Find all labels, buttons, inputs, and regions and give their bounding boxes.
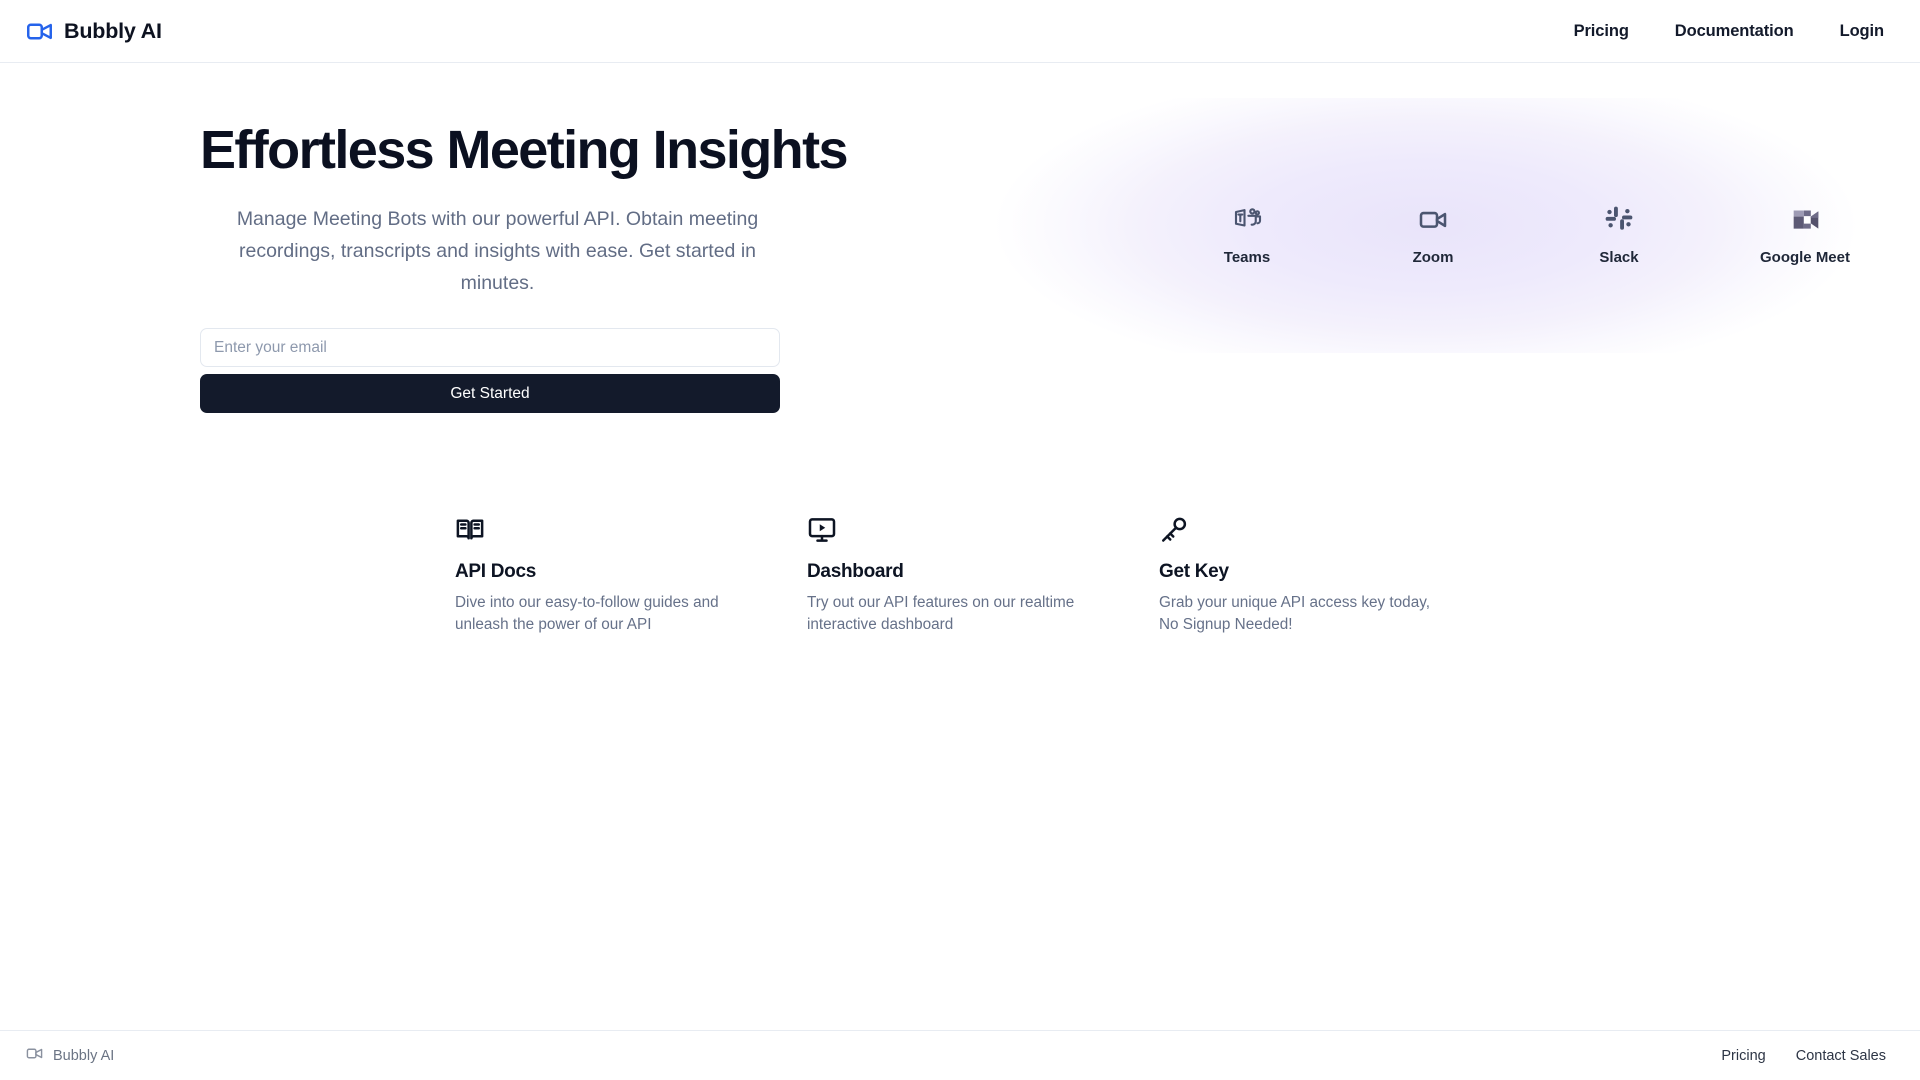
site-footer: Bubbly AI Pricing Contact Sales [0, 1030, 1920, 1080]
open-book-icon [455, 515, 807, 551]
nav-link-documentation[interactable]: Documentation [1675, 22, 1794, 41]
integration-slack[interactable]: Slack [1564, 199, 1674, 266]
footer-link-contact-sales[interactable]: Contact Sales [1796, 1048, 1886, 1064]
integration-zoom[interactable]: Zoom [1378, 199, 1488, 266]
hero-section: Effortless Meeting Insights Manage Meeti… [0, 63, 1920, 503]
page-title: Effortless Meeting Insights [200, 121, 960, 180]
hero-subtitle: Manage Meeting Bots with our powerful AP… [200, 204, 795, 299]
integration-label: Slack [1599, 249, 1638, 266]
email-input[interactable] [200, 328, 780, 367]
feature-description: Grab your unique API access key today, N… [1159, 592, 1444, 635]
google-meet-icon [1788, 199, 1822, 241]
footer-link-pricing[interactable]: Pricing [1721, 1048, 1765, 1064]
signup-form: Get Started [200, 328, 780, 413]
feature-card-dashboard[interactable]: Dashboard Try out our API features on ou… [807, 515, 1159, 635]
integration-label: Google Meet [1760, 249, 1850, 266]
footer-brand[interactable]: Bubbly AI [26, 1045, 114, 1067]
brand-name: Bubbly AI [64, 19, 162, 44]
slack-icon [1604, 199, 1634, 241]
microsoft-teams-icon [1232, 199, 1262, 241]
video-camera-icon [26, 18, 53, 45]
nav-link-pricing[interactable]: Pricing [1574, 22, 1629, 41]
integrations-list: Teams Zoom [956, 98, 1896, 353]
feature-title: Get Key [1159, 561, 1511, 583]
gradient-blob: Teams Zoom [956, 98, 1896, 353]
integration-label: Teams [1224, 249, 1270, 266]
footer-brand-name: Bubbly AI [53, 1048, 114, 1064]
feature-cards: API Docs Dive into our easy-to-follow gu… [455, 515, 1511, 635]
hero-content: Effortless Meeting Insights Manage Meeti… [0, 63, 960, 503]
feature-description: Try out our API features on our realtime… [807, 592, 1092, 635]
site-header: Bubbly AI Pricing Documentation Login [0, 0, 1920, 63]
feature-card-api-docs[interactable]: API Docs Dive into our easy-to-follow gu… [455, 515, 807, 635]
feature-card-get-key[interactable]: Get Key Grab your unique API access key … [1159, 515, 1511, 635]
feature-description: Dive into our easy-to-follow guides and … [455, 592, 740, 635]
footer-links: Pricing Contact Sales [1721, 1048, 1894, 1064]
integration-teams[interactable]: Teams [1192, 199, 1302, 266]
feature-title: API Docs [455, 561, 807, 583]
brand-logo-link[interactable]: Bubbly AI [26, 18, 162, 45]
hero-graphic: Teams Zoom [960, 63, 1920, 503]
integration-google-meet[interactable]: Google Meet [1750, 199, 1860, 266]
get-started-button[interactable]: Get Started [200, 374, 780, 413]
integration-label: Zoom [1413, 249, 1454, 266]
main-nav: Pricing Documentation Login [1574, 22, 1894, 41]
nav-link-login[interactable]: Login [1840, 22, 1884, 41]
key-icon [1159, 515, 1511, 551]
feature-title: Dashboard [807, 561, 1159, 583]
video-camera-icon [26, 1045, 43, 1067]
zoom-video-icon [1417, 199, 1449, 241]
monitor-play-icon [807, 515, 1159, 551]
